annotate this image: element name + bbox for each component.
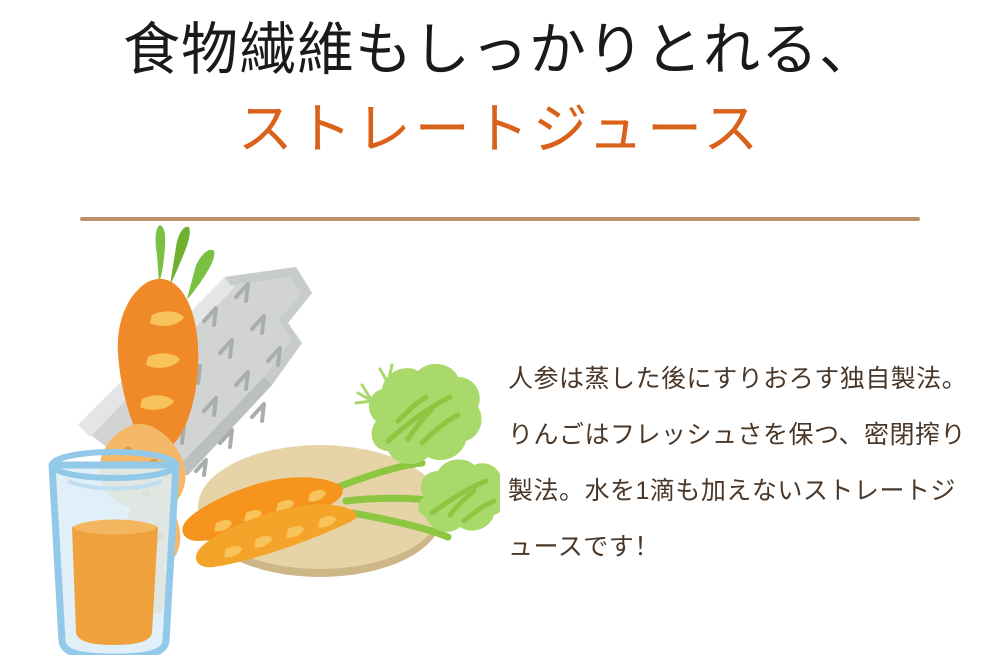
headline-line-2: ストレートジュース [0,90,1000,170]
horizontal-divider [80,217,920,221]
headline-block: 食物繊維もしっかりとれる、 ストレートジュース [0,12,1000,170]
headline-line-1: 食物繊維もしっかりとれる、 [0,12,1000,90]
food-illustration [20,225,500,655]
product-description-text: 人参は蒸した後にすりおろす独自製法。りんごはフレッシュさを保つ、密閉搾り製法。水… [508,351,978,575]
promo-banner: 食物繊維もしっかりとれる、 ストレートジュース [0,0,1000,666]
juice-glass-icon [52,452,176,655]
